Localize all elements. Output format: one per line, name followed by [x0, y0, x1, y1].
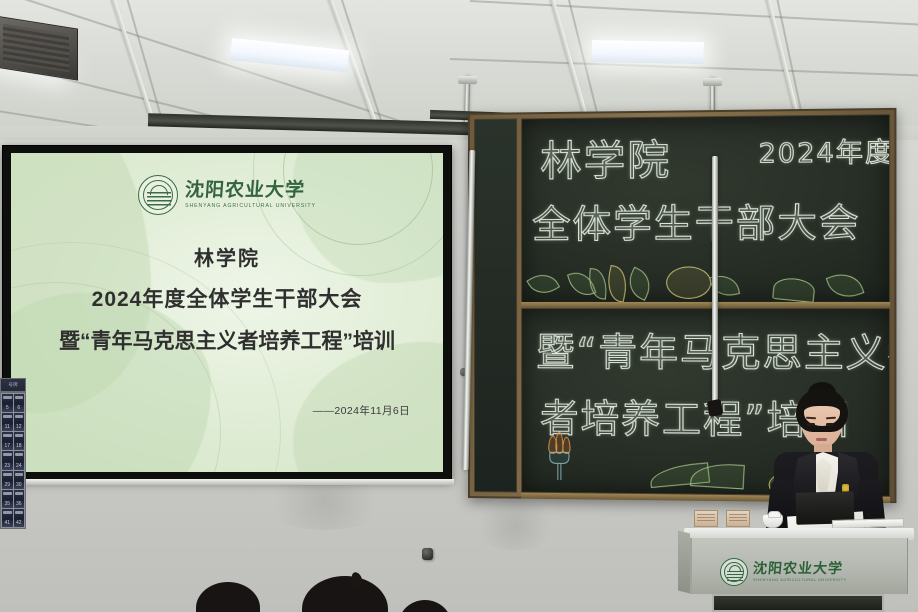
rack-cell[interactable]: 24	[14, 451, 25, 469]
ceiling-panel-light	[230, 38, 350, 72]
chalk-text-line-1-highlight: 2024年度	[759, 132, 890, 171]
podium-university-logo: 沈阳农业大学 SHENYANG AGRICULTURAL UNIVERSITY	[720, 558, 847, 586]
hanging-pole	[712, 156, 718, 406]
university-seal-icon	[720, 558, 748, 586]
wall-hook-icon	[422, 548, 433, 560]
pole-clip-icon	[707, 399, 724, 417]
blackboard-pane-top: 林学院 2024年度 全体学生干部大会	[521, 114, 890, 304]
chalk-text-line-2: 全体学生干部大会	[532, 191, 861, 248]
university-name-cn: 沈阳农业大学	[184, 181, 316, 200]
slide-university-logo: 沈阳农业大学 SHENYANG AGRICULTURAL UNIVERSITY	[138, 175, 316, 215]
chalk-leaf-icon	[826, 268, 865, 304]
rack-cell[interactable]: 11	[2, 413, 13, 431]
presenter-hair	[796, 388, 848, 432]
rack-cell[interactable]: 35	[2, 490, 13, 508]
wall-number-rack[interactable]: 5 6 11 12 17 18 23 24 29 30 35 36 41 42	[0, 392, 26, 529]
blackboard-side-panel	[474, 118, 517, 492]
slide-surface: 沈阳农业大学 SHENYANG AGRICULTURAL UNIVERSITY …	[11, 153, 443, 472]
projection-screen: 沈阳农业大学 SHENYANG AGRICULTURAL UNIVERSITY …	[2, 145, 452, 480]
eye	[807, 423, 815, 426]
chalk-leaf-icon	[526, 268, 560, 300]
classroom-scene: 沈阳农业大学 SHENYANG AGRICULTURAL UNIVERSITY …	[0, 0, 918, 612]
rack-cell[interactable]: 6	[14, 394, 25, 412]
rack-cell[interactable]: 41	[2, 509, 13, 527]
mouth	[816, 438, 827, 441]
university-name-en: SHENYANG AGRICULTURAL UNIVERSITY	[185, 204, 316, 209]
rack-cell[interactable]: 23	[2, 451, 13, 469]
podium-side-panel	[678, 531, 690, 594]
name-tent-card	[694, 510, 718, 527]
chalk-leaf-icon	[623, 267, 657, 301]
chalk-leaf-icon	[588, 268, 608, 299]
podium-university-name-en: SHENYANG AGRICULTURAL UNIVERSITY	[753, 579, 847, 583]
rack-cell[interactable]: 29	[2, 471, 13, 489]
slide-title-line-3: 暨“青年马克思主义者培养工程”培训	[59, 325, 395, 355]
projection-screen-lip	[2, 479, 454, 485]
eye	[826, 423, 834, 426]
podium-university-name-cn: 沈阳农业大学	[752, 562, 847, 576]
podium: 沈阳农业大学 SHENYANG AGRICULTURAL UNIVERSITY	[684, 528, 914, 612]
rack-cell[interactable]: 30	[14, 471, 25, 489]
air-conditioner-icon	[0, 15, 78, 80]
rack-cell[interactable]: 12	[14, 413, 25, 431]
slide-title-line-2: 2024年度全体学生干部大会	[59, 283, 395, 313]
rack-cell[interactable]: 18	[14, 432, 25, 450]
rack-cell[interactable]: 17	[2, 432, 13, 450]
chalk-leaf-icon	[604, 265, 631, 303]
rack-cell[interactable]: 36	[14, 490, 25, 508]
chalk-leaf-icon	[772, 276, 816, 303]
rack-cell[interactable]: 5	[2, 394, 13, 412]
slide-title-line-1: 林学院	[59, 242, 395, 271]
slide-title-block: 林学院 2024年度全体学生干部大会 暨“青年马克思主义者培养工程”培训	[59, 242, 395, 355]
wall-rack-header: 号牌	[0, 378, 26, 392]
slide-date: ——2024年11月6日	[313, 403, 410, 418]
university-seal-icon	[138, 175, 178, 215]
chalk-torch-icon	[546, 434, 572, 481]
chalk-flower-icon	[666, 266, 711, 299]
podium-lower-recess	[712, 594, 884, 612]
ceiling-panel-light	[592, 40, 704, 64]
chalk-text-line-1: 林学院	[540, 126, 671, 188]
name-tent-card	[726, 510, 750, 527]
podium-front-panel: 沈阳农业大学 SHENYANG AGRICULTURAL UNIVERSITY	[690, 538, 908, 594]
slide-content: 沈阳农业大学 SHENYANG AGRICULTURAL UNIVERSITY …	[11, 153, 443, 472]
rack-cell[interactable]: 42	[14, 509, 25, 527]
